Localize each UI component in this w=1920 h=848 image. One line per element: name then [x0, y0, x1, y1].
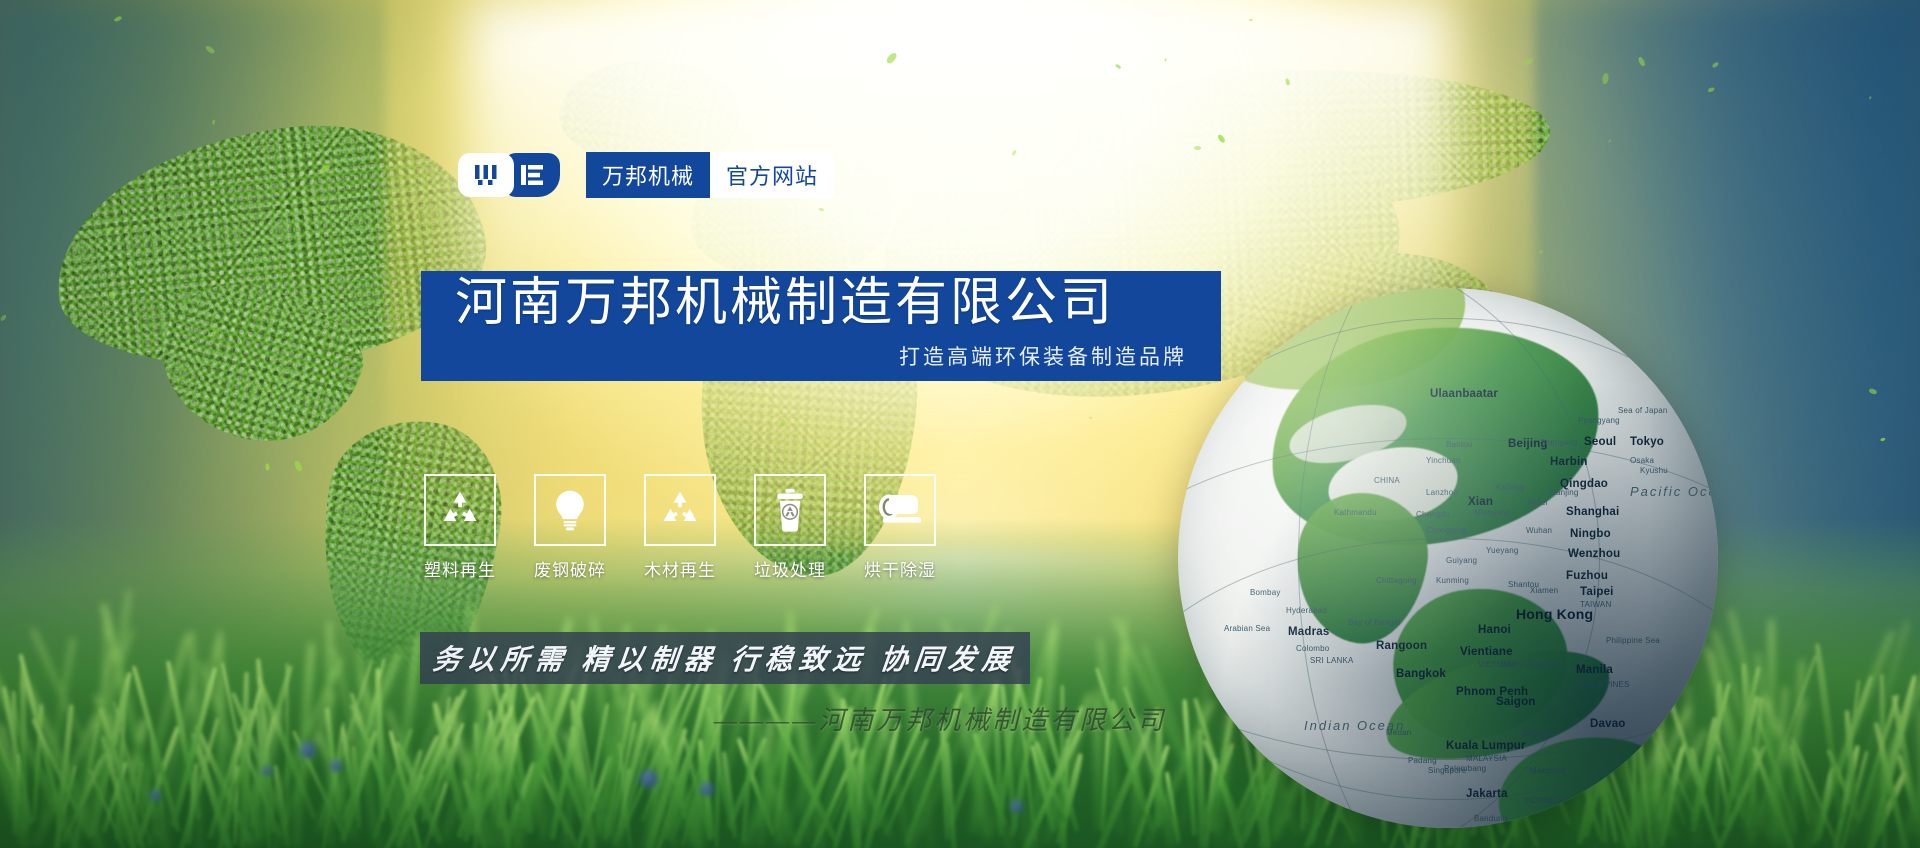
- nav-item-official-site[interactable]: 官方网站: [710, 152, 834, 198]
- hero-title-panel: 河南万邦机械制造有限公司 打造高端环保装备制造品牌: [421, 271, 1221, 381]
- feature-item-scrap-steel-crushing[interactable]: 废钢破碎: [531, 474, 609, 581]
- globe-city-label: PHILIPPINES: [1578, 680, 1630, 689]
- globe: UlaanbaatarBeijingBaotouYinchuanLanzhouK…: [1178, 288, 1738, 848]
- globe-city-label: Bangkok: [1396, 668, 1446, 680]
- globe-city-label: Seoul: [1584, 436, 1616, 448]
- globe-city-label: Yinchuan: [1426, 456, 1461, 465]
- grass-berry: [1010, 800, 1023, 813]
- globe-city-label: Shenyang: [1540, 438, 1578, 447]
- logo-w-icon: [458, 153, 514, 197]
- globe-city-label: Vientiane: [1460, 646, 1513, 658]
- globe-city-label: Indian Ocean: [1304, 718, 1405, 733]
- globe-city-label: Taipei: [1580, 586, 1614, 598]
- trash-bin-icon: [754, 474, 826, 546]
- globe-city-label: Manila: [1576, 664, 1613, 676]
- feature-item-wood-recycling[interactable]: 木材再生: [641, 474, 719, 581]
- globe-city-label: Sea of Japan: [1618, 406, 1668, 415]
- grass-blade: [158, 638, 221, 848]
- hero-banner: UlaanbaatarBeijingBaotouYinchuanLanzhouK…: [0, 0, 1920, 848]
- globe-city-label: Darwin: [1608, 824, 1634, 828]
- feature-item-waste-treatment[interactable]: 垃圾处理: [751, 474, 829, 581]
- grass-berry: [640, 770, 658, 788]
- page-title: 河南万邦机械制造有限公司: [455, 277, 1187, 329]
- globe-city-label: Ulaanbaatar: [1430, 388, 1498, 400]
- globe-city-label: Harbin: [1550, 456, 1588, 468]
- globe-city-label: Ningbo: [1570, 528, 1611, 540]
- wb-logo[interactable]: [458, 153, 560, 197]
- globe-city-label: Kunming: [1436, 576, 1469, 585]
- globe-city-label: MALAYSIA: [1466, 754, 1507, 763]
- globe-city-label: Hefei: [1528, 498, 1548, 507]
- globe-city-label: Kathmandu: [1334, 508, 1377, 517]
- globe-city-label: Bombay: [1250, 588, 1281, 597]
- dryer-machine-icon: [864, 474, 936, 546]
- feature-label: 垃圾处理: [754, 556, 826, 581]
- globe-city-label: Chittagong: [1376, 576, 1417, 585]
- globe-city-label: Davao: [1590, 718, 1626, 730]
- grass-berry: [330, 760, 342, 772]
- globe-city-label: South China Sea: [1500, 660, 1564, 669]
- globe-city-label: Mianyang: [1474, 508, 1510, 517]
- globe-city-label: Shantou: [1508, 580, 1539, 589]
- globe-city-label: Baotou: [1446, 440, 1473, 449]
- feature-icon-row: 塑料再生 废钢破碎: [421, 474, 939, 581]
- page-subtitle: 打造高端环保装备制造品牌: [455, 341, 1187, 371]
- globe-city-label: Rangoon: [1376, 640, 1427, 652]
- globe-city-label: Kuala Lumpur: [1446, 740, 1526, 752]
- globe-city-label: Lanzhou: [1426, 488, 1458, 497]
- globe-city-label: Xian: [1468, 496, 1493, 508]
- feature-item-drying-dehumidifying[interactable]: 烘干除湿: [861, 474, 939, 581]
- nav-item-company-label: 万邦机械: [602, 159, 694, 191]
- globe-city-label: Wenzhou: [1568, 548, 1620, 560]
- leaf-speck: [1249, 18, 1253, 21]
- globe-city-label: Chongqing: [1426, 526, 1467, 535]
- feature-label: 木材再生: [644, 556, 716, 581]
- nav-item-official-site-label: 官方网站: [726, 159, 818, 191]
- globe-city-label: Bay of Bengal: [1348, 618, 1400, 627]
- globe-city-label: Saigon: [1496, 696, 1536, 708]
- globe-city-label: Guiyang: [1446, 556, 1477, 565]
- globe-city-label: Colombo: [1296, 644, 1329, 653]
- globe-city-label: Philippine Sea: [1606, 636, 1660, 645]
- site-nav: 万邦机械 官方网站: [586, 152, 834, 198]
- globe-city-label: Fuzhou: [1566, 570, 1608, 582]
- grass-berry: [300, 742, 316, 758]
- globe-city-label: Hanoi: [1478, 624, 1511, 636]
- globe-city-label: INDONESIA: [1524, 796, 1570, 805]
- grass-berry: [700, 782, 714, 796]
- nav-item-company[interactable]: 万邦机械: [586, 152, 710, 198]
- globe-city-label: Palembang: [1444, 764, 1486, 773]
- globe-city-label: Pacific Ocean: [1630, 484, 1718, 499]
- globe-city-label: CHINA: [1374, 476, 1400, 485]
- globe-sphere: UlaanbaatarBeijingBaotouYinchuanLanzhouK…: [1178, 288, 1718, 828]
- globe-city-label: Madras: [1288, 626, 1329, 638]
- grass-berry: [150, 790, 161, 801]
- globe-city-label: Jakarta: [1466, 788, 1508, 800]
- globe-city-label: Osaka: [1630, 456, 1654, 465]
- globe-city-label: Port Moresby: [1614, 794, 1664, 803]
- feature-label: 烘干除湿: [864, 556, 936, 581]
- globe-city-label: Makassar: [1530, 766, 1566, 775]
- feature-label: 塑料再生: [424, 556, 496, 581]
- recycle-icon: [424, 474, 496, 546]
- grass-berry: [262, 766, 272, 776]
- globe-city-label: Nanjing: [1550, 488, 1579, 497]
- slogan-signature: ————河南万邦机械制造有限公司: [660, 700, 1220, 737]
- slogan-banner: 务以所需 精以制器 行稳致远 协同发展: [420, 632, 1030, 684]
- globe-city-label: Bandung: [1474, 814, 1507, 823]
- feature-item-plastic-recycling[interactable]: 塑料再生: [421, 474, 499, 581]
- globe-city-label: Hyderabad: [1286, 606, 1327, 615]
- feature-label: 废钢破碎: [534, 556, 606, 581]
- globe-city-label: Tokyo: [1630, 436, 1664, 448]
- globe-city-label: Chengdu: [1416, 510, 1450, 519]
- globe-city-label: Kyushu: [1640, 466, 1668, 475]
- globe-city-label: BRUNEI: [1522, 730, 1553, 739]
- globe-city-label: Kaifeng: [1496, 483, 1525, 492]
- globe-city-label: Pyongyang: [1578, 416, 1620, 425]
- globe-city-label: Hong Kong: [1516, 606, 1593, 622]
- globe-city-label: Arabian Sea: [1224, 624, 1270, 633]
- globe-city-label: Shanghai: [1566, 506, 1619, 518]
- globe-city-label: Wuhan: [1526, 526, 1552, 535]
- recycle-icon: [644, 474, 716, 546]
- leaf-speck: [1194, 146, 1201, 151]
- lightbulb-icon: [534, 474, 606, 546]
- globe-city-label: Padang: [1408, 756, 1437, 765]
- globe-city-label: SRI LANKA: [1310, 656, 1354, 665]
- slogan-text: 务以所需 精以制器 行稳致远 协同发展: [431, 638, 1018, 678]
- brand-bar: 万邦机械 官方网站: [458, 152, 834, 198]
- globe-city-label: Yueyang: [1486, 546, 1519, 555]
